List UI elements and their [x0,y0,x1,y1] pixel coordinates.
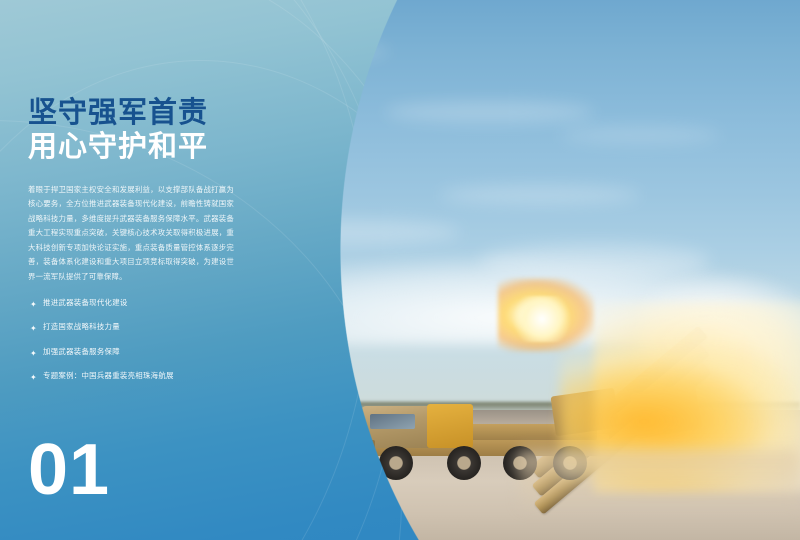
list-item: ✦ 专题案例：中国兵器重装亮相珠海航展 [30,371,245,381]
headline-line-1: 坚守强军首责 [28,96,258,130]
page-title: 坚守强军首责 用心守护和平 [28,96,258,164]
headline-line-2: 用心守护和平 [28,130,258,164]
bullet-marker-icon: ✦ [30,348,37,359]
list-item: ✦ 推进武器装备现代化建设 [30,298,245,308]
list-item-label: 推进武器装备现代化建设 [43,298,128,307]
list-item: ✦ 加强武器装备服务保障 [30,347,245,357]
list-item-label: 专题案例：中国兵器重装亮相珠海航展 [43,371,174,380]
bullet-marker-icon: ✦ [30,372,37,383]
bullet-marker-icon: ✦ [30,299,37,310]
bullet-marker-icon: ✦ [30,323,37,334]
slide-number: 01 [28,434,110,506]
bullet-list: ✦ 推进武器装备现代化建设 ✦ 打造国家战略科技力量 ✦ 加强武器装备服务保障 … [30,298,245,395]
slide-canvas: 坚守强军首责 用心守护和平 着眼于捍卫国家主权安全和发展利益，以支撑部队备战打赢… [0,0,800,540]
list-item: ✦ 打造国家战略科技力量 [30,322,245,332]
body-paragraph: 着眼于捍卫国家主权安全和发展利益，以支撑部队备战打赢为核心要务，全方位推进武器装… [28,183,234,284]
list-item-label: 打造国家战略科技力量 [43,322,120,331]
list-item-label: 加强武器装备服务保障 [43,347,120,356]
